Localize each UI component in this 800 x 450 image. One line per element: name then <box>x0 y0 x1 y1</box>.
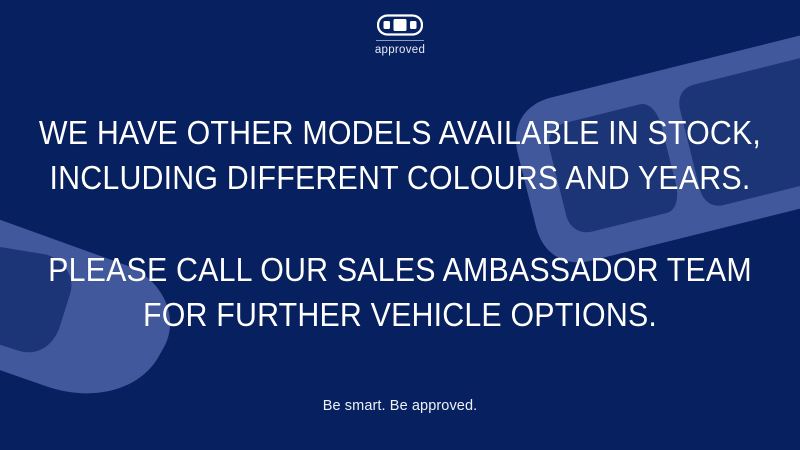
message-paragraph-2: PLEASE CALL OUR SALES AMBASSADOR TEAM FO… <box>32 247 768 337</box>
message-block: WE HAVE OTHER MODELS AVAILABLE IN STOCK,… <box>0 110 800 337</box>
brand-logo: approved <box>0 14 800 56</box>
brand-tagline: Be smart. Be approved. <box>0 398 800 414</box>
logo-divider <box>376 40 424 41</box>
car-top-view-icon <box>377 14 423 36</box>
message-paragraph-1: WE HAVE OTHER MODELS AVAILABLE IN STOCK,… <box>32 110 768 200</box>
brand-name: approved <box>375 44 425 56</box>
slide-canvas: approved WE HAVE OTHER MODELS AVAILABLE … <box>0 0 800 450</box>
